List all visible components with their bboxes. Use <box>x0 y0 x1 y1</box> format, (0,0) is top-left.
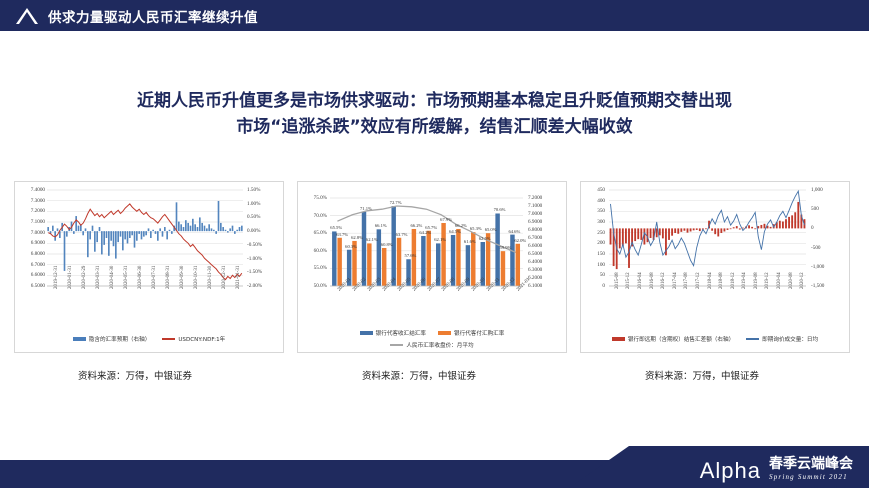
legend-swatch-icon <box>360 331 373 335</box>
chart-1-legend-item: 隐含的汇率预期（右轴） <box>73 335 151 343</box>
chart-3-xtick: 2015-12 <box>626 272 631 289</box>
chart-1-xtick: 2020-06-30 <box>138 266 143 289</box>
chart-3-xtick: 2018-12 <box>731 272 736 289</box>
chart-3-xtick: 2016-12 <box>661 272 666 289</box>
chart-1-xtick: 2020-03-31 <box>96 266 101 289</box>
chart-3-plot <box>581 182 851 354</box>
chart-2-data-label: 60.8% <box>381 242 393 247</box>
chart-2-data-label: 72.7% <box>390 200 402 205</box>
chart-3-xtick: 2020-08 <box>789 272 794 289</box>
chart-2-data-label: 65.7% <box>425 225 437 230</box>
chart-1-xtick: 2020-10-31 <box>194 266 199 289</box>
legend-swatch-icon <box>438 331 451 335</box>
chart-3-xtick: 2016-04 <box>638 272 643 289</box>
chart-3-legend-label: 银行即远期（含期权）结售汇差额（右轴） <box>628 337 734 343</box>
chart-1-xtick: 2020-12-31 <box>222 266 227 289</box>
chart-2-data-label: 62.8% <box>351 235 363 240</box>
chart-2-data-label: 62.1% <box>434 237 446 242</box>
chart-1-xtick: 2020-08-31 <box>166 266 171 289</box>
chart-2-data-label: 71.1% <box>360 206 372 211</box>
chart-1-xtick: 2020-04-30 <box>110 266 115 289</box>
chart-3-xtick: 2019-04 <box>742 272 747 289</box>
chart-3-xtick: 2017-08 <box>684 272 689 289</box>
chart-2-data-label: 64.6% <box>508 229 520 234</box>
chart-3-xtick: 2017-12 <box>696 272 701 289</box>
chart-1-xtick: 2020-07-31 <box>152 266 157 289</box>
chart-panel-1: 7.40007.30007.20007.10007.00006.90006.80… <box>14 181 284 353</box>
chart-2-data-label: 57.6% <box>405 253 417 258</box>
chart-1-xtick: 2021-01-31 <box>236 266 241 289</box>
legend-swatch-icon <box>73 337 86 341</box>
chart-2-data-label: 64.2% <box>419 230 431 235</box>
chart-2-legend-item: 人民币汇率收盘价：月平均 <box>390 341 473 349</box>
page-title-line1: 近期人民币升值更多是市场供求驱动：市场预期基本稳定且升贬值预期交替出现 <box>137 91 732 111</box>
chart-3-xtick: 2018-08 <box>719 272 724 289</box>
chart-2-data-label: 65.3% <box>470 226 482 231</box>
chart-2-legend-row2: 人民币汇率收盘价：月平均 <box>298 336 566 354</box>
charts-row: 7.40007.30007.20007.10007.00006.90006.80… <box>0 181 869 381</box>
alpha-wordmark: Alpha <box>700 460 761 482</box>
page-title-line2: 市场“追涨杀跌”效应有所缓解，结售汇顺差大幅收敛 <box>0 114 869 140</box>
chart-1-legend-label: USDCNY:NDF:1年 <box>178 337 225 343</box>
chart-2-data-label: 65.5% <box>330 225 342 230</box>
chart-2-data-label: 64.5% <box>449 229 461 234</box>
chart-panel-3: 4504003503002502001501005001,0005000-500… <box>580 181 850 353</box>
summit-title-en: Spring Summit 2021 <box>769 472 853 482</box>
page-title: 近期人民币升值更多是市场供求驱动：市场预期基本稳定且升贬值预期交替出现 市场“追… <box>0 88 869 140</box>
chart-2-data-label: 62.0% <box>514 238 526 243</box>
legend-swatch-icon <box>612 337 625 341</box>
chart-2-data-label: 66.2% <box>410 223 422 228</box>
header-bar: 供求力量驱动人民币汇率继续升值 <box>0 0 869 31</box>
chart-3-xtick: 2017-04 <box>673 272 678 289</box>
chart-1-legend-item: USDCNY:NDF:1年 <box>162 335 225 343</box>
chart-2-data-label: 63.7% <box>396 232 408 237</box>
footer-logo: Alpha 春季云端峰会 Spring Summit 2021 <box>700 456 853 482</box>
chart-1-legend-label: 隐含的汇率预期（右轴） <box>89 337 151 343</box>
chart-2-data-label: 66.1% <box>375 223 387 228</box>
chart-3-legend-label: 即期询价成交量：日均 <box>762 337 818 343</box>
chart-3-xtick: 2016-08 <box>650 272 655 289</box>
chart-3-xtick: 2020-12 <box>800 272 805 289</box>
chart-1-xtick: 2020-01-31 <box>68 266 73 289</box>
chart-2-data-label: 61.6% <box>464 239 476 244</box>
chart-3-xtick: 2019-12 <box>765 272 770 289</box>
chart-2-data-label: 59.9% <box>500 245 512 250</box>
chart-3-legend-item: 即期询价成交量：日均 <box>746 335 818 343</box>
chart-1-xtick: 2020-11-30 <box>208 266 213 289</box>
chart-2-data-label: 60.3% <box>345 244 357 249</box>
chart-1-xtick: 2019-12-31 <box>54 266 59 289</box>
chart-3-xtick: 2015-08 <box>615 272 620 289</box>
triangle-mark-icon <box>14 6 40 26</box>
chart-2-data-label: 66.2% <box>455 223 467 228</box>
chart-2-data-label: 65.0% <box>485 227 497 232</box>
legend-swatch-icon <box>390 344 403 346</box>
chart-1-xtick: 2020-09-30 <box>180 266 185 289</box>
chart-2-legend-label: 人民币汇率收盘价：月平均 <box>406 343 473 349</box>
legend-swatch-icon <box>746 338 759 340</box>
summit-wordmark: 春季云端峰会 Spring Summit 2021 <box>769 456 853 482</box>
chart-2-data-label: 70.6% <box>494 207 506 212</box>
chart-source-1: 资料来源：万得，中银证券 <box>78 368 192 382</box>
chart-2-data-label: 63.7% <box>336 232 348 237</box>
chart-3-legend-item: 银行即远期（含期权）结售汇差额（右轴） <box>612 335 734 343</box>
chart-2-data-label: 67.9% <box>440 217 452 222</box>
chart-2-data-label: 62.5% <box>479 236 491 241</box>
chart-3-legend: 银行即远期（含期权）结售汇差额（右轴）即期询价成交量：日均 <box>581 330 849 348</box>
chart-3-xtick: 2019-08 <box>754 272 759 289</box>
header-title: 供求力量驱动人民币汇率继续升值 <box>48 6 258 26</box>
chart-1-legend: 隐含的汇率预期（右轴）USDCNY:NDF:1年 <box>15 330 283 348</box>
chart-source-2: 资料来源：万得，中银证券 <box>362 368 476 382</box>
legend-swatch-icon <box>162 338 175 340</box>
chart-1-xtick: 2020-02-29 <box>82 266 87 289</box>
chart-2-data-label: 62.1% <box>366 237 378 242</box>
chart-panel-2: 75.0%70.0%65.0%60.0%55.0%50.0%7.20007.10… <box>297 181 567 353</box>
chart-1-xtick: 2020-05-31 <box>124 266 129 289</box>
summit-title-cn: 春季云端峰会 <box>769 456 853 472</box>
chart-3-xtick: 2018-04 <box>708 272 713 289</box>
chart-source-3: 资料来源：万得，中银证券 <box>645 368 759 382</box>
chart-3-xtick: 2020-04 <box>777 272 782 289</box>
